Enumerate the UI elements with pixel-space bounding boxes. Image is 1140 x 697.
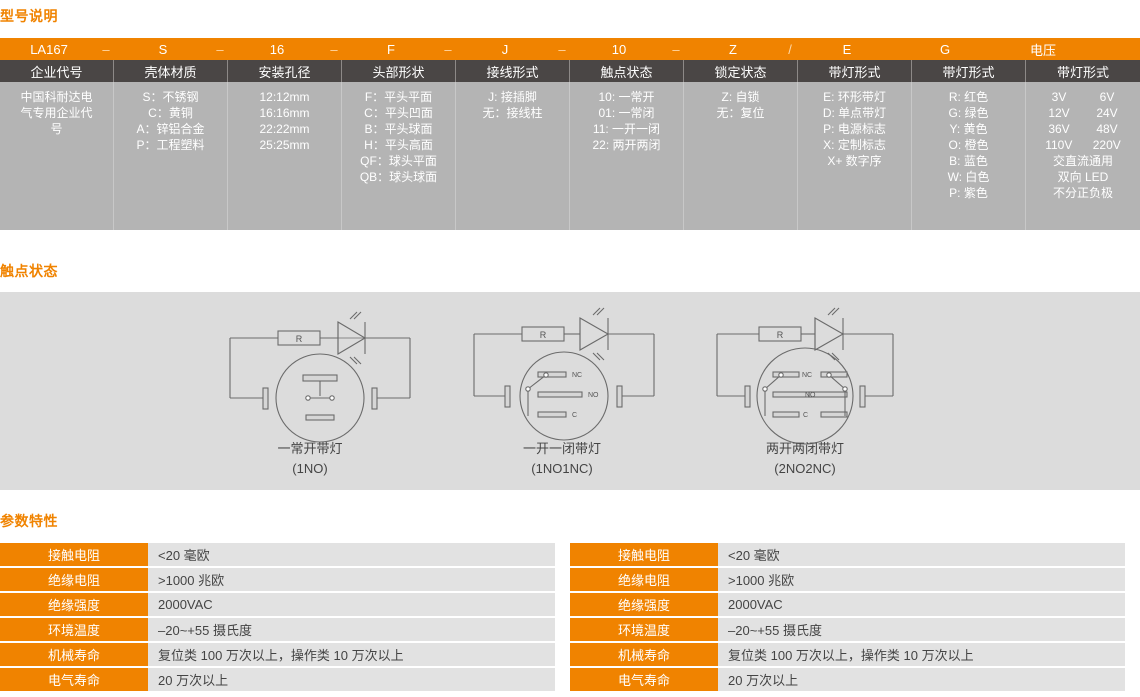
- model-option: 无：接线柱: [482, 105, 542, 121]
- model-code-separator: /: [782, 38, 798, 60]
- model-cell-lamp-type: E: 环形带灯D: 单点带灯P: 电源标志X: 定制标志X+ 数字序: [798, 82, 912, 230]
- model-code-mounting-hole: 16: [228, 38, 326, 60]
- model-voltage-value: 110V: [1045, 137, 1072, 153]
- model-option: P: 紫色: [949, 185, 988, 201]
- model-code-separator: –: [326, 38, 342, 60]
- model-option: 22:22mm: [259, 121, 309, 137]
- parameter-table-right: 接触电阻<20 毫欧绝缘电阻>1000 兆欧绝缘强度2000VAC环境温度–20…: [570, 543, 1125, 693]
- parameter-value: –20~+55 摄氏度: [148, 618, 555, 641]
- model-option: G: 绿色: [948, 105, 988, 121]
- model-option: 气专用企业代: [20, 105, 92, 121]
- model-code-contact-state: 10: [570, 38, 668, 60]
- model-header-mounting-hole: 安装孔径: [228, 60, 342, 82]
- parameter-label: 绝缘电阻: [570, 568, 718, 591]
- model-voltage-value: 48V: [1096, 121, 1117, 137]
- parameter-row: 绝缘强度2000VAC: [0, 593, 555, 616]
- model-option: 无：复位: [716, 105, 764, 121]
- model-header-lamp-color: 带灯形式: [912, 60, 1026, 82]
- model-code-lock-state: Z: [684, 38, 782, 60]
- model-option: J: 接插脚: [488, 89, 537, 105]
- parameter-row: 接触电阻<20 毫欧: [570, 543, 1125, 566]
- model-option: E: 环形带灯: [823, 89, 886, 105]
- parameter-row: 接触电阻<20 毫欧: [0, 543, 555, 566]
- page-title-model: 型号说明: [0, 6, 58, 26]
- parameter-table-left: 接触电阻<20 毫欧绝缘电阻>1000 兆欧绝缘强度2000VAC环境温度–20…: [0, 543, 555, 693]
- parameter-row: 绝缘电阻>1000 兆欧: [0, 568, 555, 591]
- parameter-row: 机械寿命复位类 100 万次以上，操作类 10 万次以上: [570, 643, 1125, 666]
- model-voltage-value: 36V: [1048, 121, 1069, 137]
- model-option: A：锌铝合金: [136, 121, 204, 137]
- model-cell-lamp-voltage: 3V6V12V24V36V48V110V220V交直流通用双向 LED不分正负极: [1026, 82, 1140, 230]
- terminal-label-c-3: C: [803, 412, 808, 419]
- model-option: 11: 一开一闭: [593, 121, 660, 137]
- model-cell-mounting-hole: 12:12mm16:16mm22:22mm25:25mm: [228, 82, 342, 230]
- model-code-row: LA167–S–16–F–J–10–Z/EG电压: [0, 38, 1140, 60]
- model-option: 16:16mm: [259, 105, 309, 121]
- terminal-label-no-3: NO: [805, 392, 816, 399]
- model-cell-shell-material: S：不锈钢C：黄铜A：锌铝合金P：工程塑料: [114, 82, 228, 230]
- model-voltage-value: 24V: [1096, 105, 1117, 121]
- parameter-label: 机械寿命: [570, 643, 718, 666]
- parameter-label: 环境温度: [0, 618, 148, 641]
- parameter-row: 机械寿命复位类 100 万次以上，操作类 10 万次以上: [0, 643, 555, 666]
- parameter-value: 2000VAC: [148, 593, 555, 616]
- model-option: O: 橙色: [948, 137, 988, 153]
- parameter-label: 接触电阻: [0, 543, 148, 566]
- resistor-label-3: R: [777, 330, 784, 340]
- model-option: W: 白色: [948, 169, 990, 185]
- model-code-separator: –: [668, 38, 684, 60]
- model-option: Z: 自锁: [722, 89, 760, 105]
- parameter-label: 机械寿命: [0, 643, 148, 666]
- model-voltage-value: 220V: [1093, 137, 1121, 153]
- model-code-separator: –: [554, 38, 570, 60]
- model-option: 中国科耐达电: [20, 89, 92, 105]
- model-voltage-pair: 3V6V: [1035, 89, 1131, 105]
- model-option: F：平头平面: [365, 89, 432, 105]
- model-option: D: 单点带灯: [823, 105, 886, 121]
- model-voltage-note: 交直流通用: [1035, 153, 1131, 169]
- parameter-row: 环境温度–20~+55 摄氏度: [570, 618, 1125, 641]
- parameter-row: 电气寿命20 万次以上: [0, 668, 555, 691]
- model-option: R: 红色: [949, 89, 988, 105]
- parameter-label: 电气寿命: [570, 668, 718, 691]
- resistor-label-1: R: [296, 334, 303, 344]
- parameter-value: –20~+55 摄氏度: [718, 618, 1125, 641]
- parameter-value: 复位类 100 万次以上，操作类 10 万次以上: [148, 643, 555, 666]
- terminal-label-nc-2: NC: [572, 372, 582, 379]
- page-title-parameters: 参数特性: [0, 511, 58, 531]
- model-option: 号: [50, 121, 62, 137]
- model-cell-contact-state: 10: 一常开01: 一常闭11: 一开一闭22: 两开两闭: [570, 82, 684, 230]
- parameter-label: 绝缘强度: [570, 593, 718, 616]
- model-code-separator: –: [212, 38, 228, 60]
- model-cell-wiring-type: J: 接插脚无：接线柱: [456, 82, 570, 230]
- model-header-head-shape: 头部形状: [342, 60, 456, 82]
- model-option: QF：球头平面: [360, 153, 437, 169]
- model-option: 25:25mm: [259, 137, 309, 153]
- model-header-lamp-voltage: 带灯形式: [1026, 60, 1140, 82]
- parameter-value: 2000VAC: [718, 593, 1125, 616]
- model-voltage-note: 不分正负极: [1035, 185, 1131, 201]
- model-cell-head-shape: F：平头平面C：平头凹面B：平头球面H：平头高面QF：球头平面QB：球头球面: [342, 82, 456, 230]
- model-code-wiring-type: J: [456, 38, 554, 60]
- model-option: B：平头球面: [364, 121, 432, 137]
- model-code-lamp-type: E: [798, 38, 896, 60]
- model-code-lamp-color: G: [896, 38, 994, 60]
- model-voltage-pair: 12V24V: [1035, 105, 1131, 121]
- parameter-label: 电气寿命: [0, 668, 148, 691]
- parameter-value: >1000 兆欧: [718, 568, 1125, 591]
- parameter-label: 绝缘强度: [0, 593, 148, 616]
- model-voltage-value: 6V: [1100, 89, 1115, 105]
- model-cell-enterprise-code: 中国科耐达电气专用企业代号: [0, 82, 114, 230]
- model-header-shell-material: 壳体材质: [114, 60, 228, 82]
- diagram-3-caption: 两开两闭带灯 (2NO2NC): [655, 439, 955, 479]
- model-option: 12:12mm: [259, 89, 309, 105]
- contact-state-diagram-band: R 一常开带灯 (1NO): [0, 292, 1140, 490]
- parameter-value: 20 万次以上: [718, 668, 1125, 691]
- model-cell-lamp-color: R: 红色G: 绿色Y: 黄色O: 橙色B: 蓝色W: 白色P: 紫色: [912, 82, 1026, 230]
- model-cell-lock-state: Z: 自锁无：复位: [684, 82, 798, 230]
- model-option: X: 定制标志: [823, 137, 886, 153]
- model-header-contact-state: 触点状态: [570, 60, 684, 82]
- model-code-lamp-voltage: 电压: [994, 38, 1092, 60]
- parameter-value: <20 毫欧: [718, 543, 1125, 566]
- diagram-2no2nc: R NC NO C 两开两闭带灯 (2NO2NC): [655, 292, 955, 490]
- model-option: S：不锈钢: [142, 89, 198, 105]
- parameter-row: 绝缘强度2000VAC: [570, 593, 1125, 616]
- terminal-label-nc-3: NC: [802, 372, 812, 379]
- model-option: H：平头高面: [364, 137, 433, 153]
- terminal-label-c-2: C: [572, 412, 577, 419]
- parameter-row: 环境温度–20~+55 摄氏度: [0, 618, 555, 641]
- model-voltage-note: 双向 LED: [1035, 169, 1131, 185]
- model-option: 22: 两开两闭: [592, 137, 660, 153]
- model-option: 01: 一常闭: [598, 105, 654, 121]
- model-option: X+ 数字序: [827, 153, 881, 169]
- parameter-value: >1000 兆欧: [148, 568, 555, 591]
- model-option: P：工程塑料: [136, 137, 204, 153]
- parameter-row: 绝缘电阻>1000 兆欧: [570, 568, 1125, 591]
- model-option: P: 电源标志: [823, 121, 886, 137]
- model-code-head-shape: F: [342, 38, 440, 60]
- model-header-lock-state: 锁定状态: [684, 60, 798, 82]
- model-option: C：平头凹面: [364, 105, 433, 121]
- model-header-enterprise-code: 企业代号: [0, 60, 114, 82]
- model-option: Y: 黄色: [949, 121, 987, 137]
- model-voltage-pair: 110V220V: [1035, 137, 1131, 153]
- parameter-value: 复位类 100 万次以上，操作类 10 万次以上: [718, 643, 1125, 666]
- model-option: C：黄铜: [148, 105, 193, 121]
- model-header-lamp-type: 带灯形式: [798, 60, 912, 82]
- parameter-value: <20 毫欧: [148, 543, 555, 566]
- model-voltage-value: 12V: [1048, 105, 1069, 121]
- parameter-label: 环境温度: [570, 618, 718, 641]
- model-option: QB：球头球面: [360, 169, 437, 185]
- parameter-label: 绝缘电阻: [0, 568, 148, 591]
- model-body-row: 中国科耐达电气专用企业代号S：不锈钢C：黄铜A：锌铝合金P：工程塑料12:12m…: [0, 82, 1140, 230]
- model-voltage-value: 3V: [1052, 89, 1067, 105]
- model-option: B: 蓝色: [949, 153, 988, 169]
- terminal-label-no-2: NO: [588, 392, 599, 399]
- model-code-separator: –: [440, 38, 456, 60]
- model-code-enterprise-code: LA167: [0, 38, 98, 60]
- model-header-wiring-type: 接线形式: [456, 60, 570, 82]
- model-specification-table: LA167–S–16–F–J–10–Z/EG电压 企业代号壳体材质安装孔径头部形…: [0, 38, 1140, 230]
- diagram-3-caption-cn: 两开两闭带灯: [655, 439, 955, 459]
- model-code-shell-material: S: [114, 38, 212, 60]
- resistor-label-2: R: [540, 330, 547, 340]
- page-title-contact: 触点状态: [0, 261, 58, 281]
- parameter-value: 20 万次以上: [148, 668, 555, 691]
- diagram-3-caption-en: (2NO2NC): [655, 459, 955, 479]
- model-code-separator: –: [98, 38, 114, 60]
- model-option: 10: 一常开: [598, 89, 654, 105]
- parameter-row: 电气寿命20 万次以上: [570, 668, 1125, 691]
- model-voltage-pair: 36V48V: [1035, 121, 1131, 137]
- model-header-row: 企业代号壳体材质安装孔径头部形状接线形式触点状态锁定状态带灯形式带灯形式带灯形式: [0, 60, 1140, 82]
- parameter-label: 接触电阻: [570, 543, 718, 566]
